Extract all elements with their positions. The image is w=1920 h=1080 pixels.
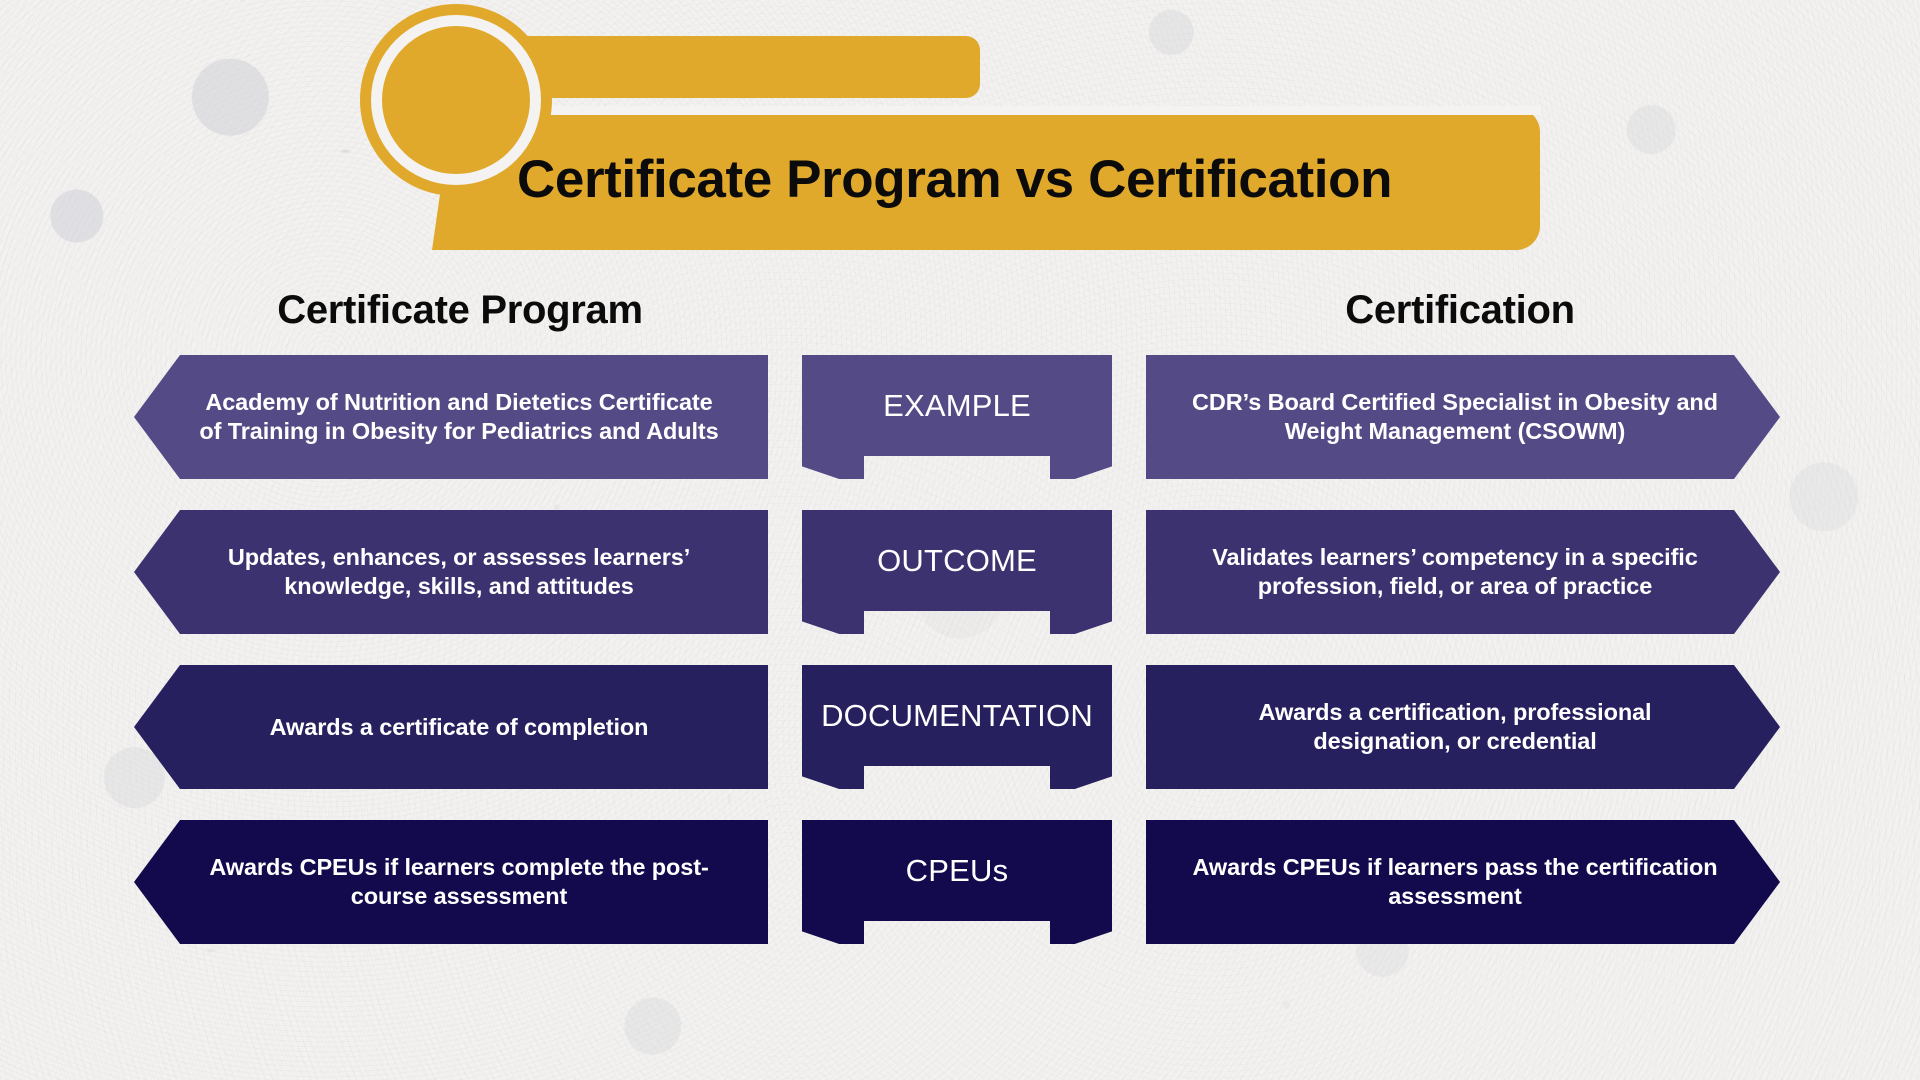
header: Certificate Program vs Certification [0,0,1920,270]
certificate-program-cell: Awards a certificate of completion [134,665,768,789]
comparison-row: Updates, enhances, or assesses learners’… [0,510,1920,634]
row-label: EXAMPLE [802,355,1112,456]
certification-cell: CDR’s Board Certified Specialist in Obes… [1146,355,1780,479]
row-label-ribbon: DOCUMENTATION [802,665,1112,789]
ribbon-tail-left-icon [802,921,864,944]
row-label-ribbon: CPEUs [802,820,1112,944]
column-heading-certificate-program: Certificate Program [140,288,780,333]
ribbon-tail-left-icon [802,766,864,789]
ribbon-tail-right-icon [1050,766,1112,789]
ribbon-tail-left-icon [802,456,864,479]
comparison-row: Academy of Nutrition and Dietetics Certi… [0,355,1920,479]
comparison-row: Awards a certificate of completion DOCUM… [0,665,1920,789]
certification-cell: Awards a certification, professional des… [1146,665,1780,789]
row-label-ribbon: EXAMPLE [802,355,1112,479]
ribbon-tail-right-icon [1050,611,1112,634]
ribbon-tail-right-icon [1050,456,1112,479]
row-label: DOCUMENTATION [802,665,1112,766]
comparison-row: Awards CPEUs if learners complete the po… [0,820,1920,944]
ribbon-tail-left-icon [802,611,864,634]
certificate-program-cell: Awards CPEUs if learners complete the po… [134,820,768,944]
row-label-ribbon: OUTCOME [802,510,1112,634]
column-heading-certification: Certification [1140,288,1780,333]
certification-cell: Awards CPEUs if learners pass the certif… [1146,820,1780,944]
row-label: OUTCOME [802,510,1112,611]
certification-cell: Validates learners’ competency in a spec… [1146,510,1780,634]
page-title: Certificate Program vs Certification [440,108,1540,250]
certificate-program-cell: Updates, enhances, or assesses learners’… [134,510,768,634]
row-label: CPEUs [802,820,1112,921]
certificate-program-cell: Academy of Nutrition and Dietetics Certi… [134,355,768,479]
ribbon-tail-right-icon [1050,921,1112,944]
